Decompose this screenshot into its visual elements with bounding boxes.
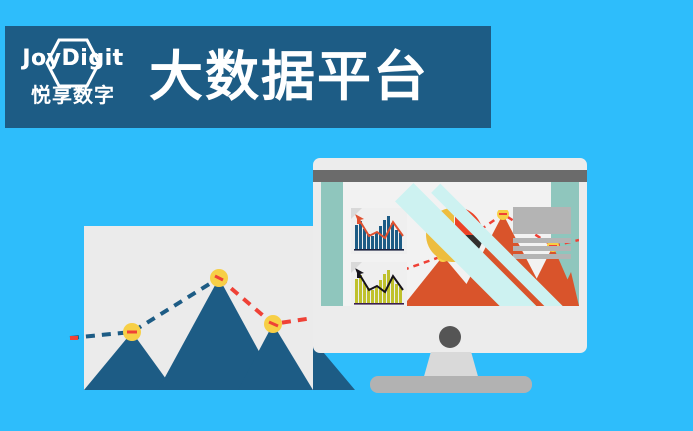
blue-bar-chart-card[interactable]	[351, 208, 407, 254]
monitor-screen[interactable]	[321, 182, 579, 306]
pie-chart-svg	[425, 206, 483, 264]
header-banner: JoyDigit 悦享数字 大数据平台	[5, 26, 491, 128]
mountain-shape-1	[84, 332, 174, 390]
monitor-top-bar	[313, 170, 587, 182]
text-placeholder-block	[513, 207, 571, 259]
pie-chart[interactable]	[425, 206, 483, 264]
desktop-monitor	[313, 158, 587, 353]
poster-canvas: JoyDigit 悦享数字 大数据平台	[0, 0, 693, 431]
brand-logo: JoyDigit 悦享数字	[19, 36, 127, 118]
logo-subtitle: 悦享数字	[19, 86, 127, 106]
axis-line	[354, 249, 404, 251]
logo-wordmark: JoyDigit	[19, 48, 127, 70]
placeholder-line	[513, 254, 571, 259]
placeholder-line	[513, 246, 571, 251]
page-title: 大数据平台	[149, 50, 429, 104]
monitor-home-button[interactable]	[439, 326, 461, 348]
axis-line	[354, 303, 404, 305]
screen-side-band-left	[321, 182, 343, 306]
page-fold-icon	[351, 208, 362, 219]
pie-slice-red	[455, 207, 483, 235]
blue-mountain-chart-panel	[84, 226, 313, 390]
page-fold-icon	[351, 262, 362, 273]
monitor-stand-base	[370, 376, 532, 393]
blue-mountain-chart-svg	[70, 226, 313, 390]
yellow-bar-chart-card[interactable]	[351, 262, 407, 306]
placeholder-header-block	[513, 207, 571, 234]
placeholder-line	[513, 238, 571, 243]
